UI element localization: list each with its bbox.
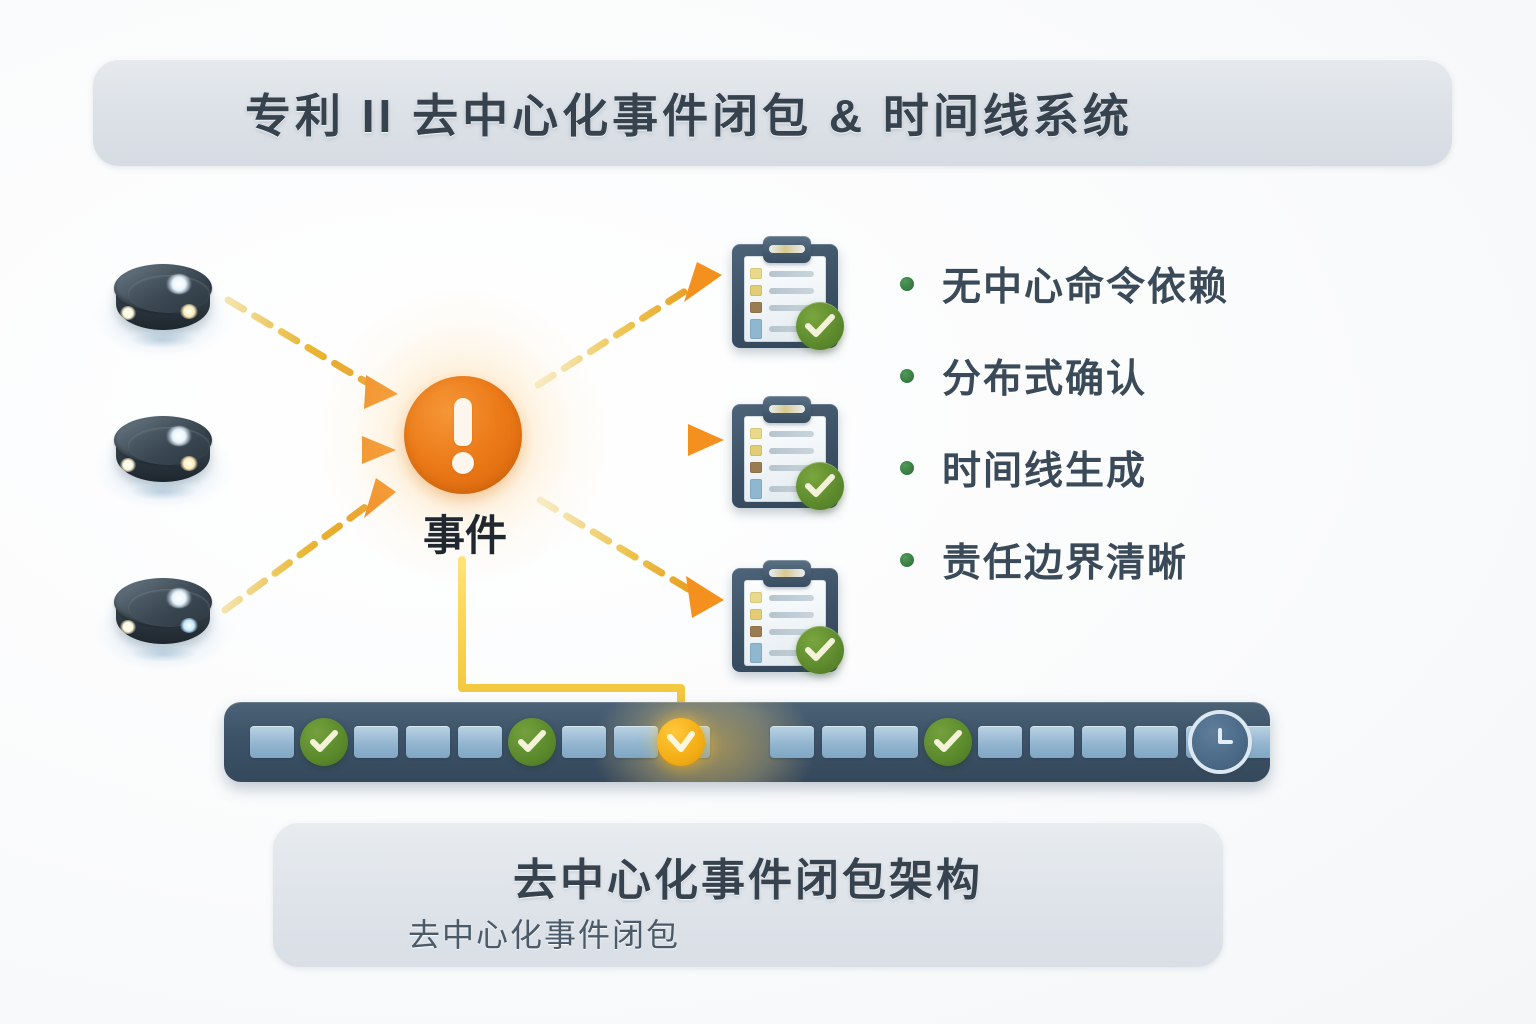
clipboard-swatch [750, 319, 762, 339]
node-device-shadow [130, 646, 196, 662]
caption-band: 去中心化事件闭包架构 去中心化事件闭包 [273, 822, 1223, 967]
exclamation-dot [452, 452, 474, 474]
event-node-label: 事件 [400, 502, 530, 563]
timeline-marker-confirmed[interactable] [924, 718, 972, 766]
clipboard-line [769, 595, 814, 601]
clipboard-swatch [750, 479, 762, 499]
node-led-right [180, 304, 198, 319]
timeline-segment[interactable] [406, 726, 450, 758]
clipboard-clip-inner [769, 569, 805, 577]
timeline-segment[interactable] [354, 726, 398, 758]
clock-icon[interactable] [1192, 714, 1248, 770]
timeline-segment[interactable] [250, 726, 294, 758]
bullet-dot-icon [900, 369, 914, 383]
clipboard-line [769, 288, 814, 294]
bullet-dot-icon [900, 461, 914, 475]
node-device-top [114, 264, 212, 312]
clipboard-swatch [750, 428, 762, 439]
clipboard-clip-inner [769, 405, 805, 413]
node-device-3[interactable] [108, 572, 218, 664]
node-led-right [180, 618, 198, 633]
clipboard-check-icon [796, 626, 844, 674]
node-led-left [120, 458, 136, 472]
feature-list: 无中心命令依赖 分布式确认 时间线生成 责任边界清晰 [900, 238, 1420, 606]
node-led-left [120, 306, 136, 320]
clipboard-swatch [750, 626, 762, 637]
list-item-label: 无中心命令依赖 [942, 256, 1229, 312]
clipboard-line [769, 612, 814, 618]
clipboard-clip [763, 396, 811, 423]
timeline-segment[interactable] [874, 726, 918, 758]
clipboard-3[interactable] [722, 552, 848, 678]
node-led-primary [166, 588, 192, 608]
node-led-right [180, 456, 198, 471]
list-item-label: 责任边界清晰 [942, 532, 1188, 588]
node-device-shadow [130, 332, 196, 348]
caption-subtitle: 去中心化事件闭包 [408, 910, 680, 956]
timeline-segment[interactable] [770, 726, 814, 758]
clipboard-line [769, 448, 814, 454]
node-device-top [114, 578, 212, 626]
exclamation-stem [454, 398, 472, 446]
timeline-segment[interactable] [1030, 726, 1074, 758]
node-device-shadow [130, 484, 196, 500]
node-led-primary [166, 426, 192, 446]
clipboard-swatch [750, 462, 762, 473]
list-item: 无中心命令依赖 [900, 238, 1420, 330]
timeline-segment[interactable] [562, 726, 606, 758]
bullet-dot-icon [900, 277, 914, 291]
clipboard-check-icon [796, 302, 844, 350]
list-item: 时间线生成 [900, 422, 1420, 514]
clipboard-row [750, 609, 814, 620]
clipboard-swatch [750, 609, 762, 620]
node-device-2[interactable] [108, 410, 218, 502]
clipboard-swatch [750, 285, 762, 296]
clipboard-clip [763, 236, 811, 263]
timeline-connector [462, 560, 681, 716]
clipboard-2[interactable] [722, 388, 848, 514]
list-item-label: 分布式确认 [942, 348, 1147, 404]
node-led-left [120, 620, 136, 634]
clipboard-row [750, 428, 814, 439]
node-led-primary [166, 274, 192, 294]
timeline-marker-active[interactable] [657, 718, 705, 766]
timeline-segment[interactable] [614, 726, 658, 758]
clipboard-line [769, 431, 814, 437]
list-item: 分布式确认 [900, 330, 1420, 422]
node-device-top [114, 416, 212, 464]
clipboard-clip-inner [769, 245, 805, 253]
clipboard-clip [763, 560, 811, 587]
clipboard-swatch [750, 592, 762, 603]
clipboard-swatch [750, 643, 762, 663]
clipboard-check-icon [796, 462, 844, 510]
list-item: 责任边界清晰 [900, 514, 1420, 606]
node-device-1[interactable] [108, 258, 218, 350]
exclamation-icon [404, 376, 522, 494]
clipboard-1[interactable] [722, 228, 848, 354]
timeline-bar[interactable] [224, 702, 1270, 782]
timeline-segment[interactable] [978, 726, 1022, 758]
clipboard-row [750, 592, 814, 603]
timeline-segment[interactable] [458, 726, 502, 758]
clipboard-line [769, 271, 814, 277]
bullet-dot-icon [900, 553, 914, 567]
timeline-segment[interactable] [1134, 726, 1178, 758]
timeline-marker-confirmed[interactable] [508, 718, 556, 766]
timeline-marker-confirmed[interactable] [300, 718, 348, 766]
clipboard-row [750, 285, 814, 296]
clipboard-row [750, 445, 814, 456]
clipboard-swatch [750, 302, 762, 313]
caption-title: 去中心化事件闭包架构 [273, 844, 1223, 908]
list-item-label: 时间线生成 [942, 440, 1147, 496]
clipboard-swatch [750, 445, 762, 456]
clipboard-row [750, 268, 814, 279]
timeline-segment[interactable] [1082, 726, 1126, 758]
timeline-segment[interactable] [822, 726, 866, 758]
clipboard-swatch [750, 268, 762, 279]
